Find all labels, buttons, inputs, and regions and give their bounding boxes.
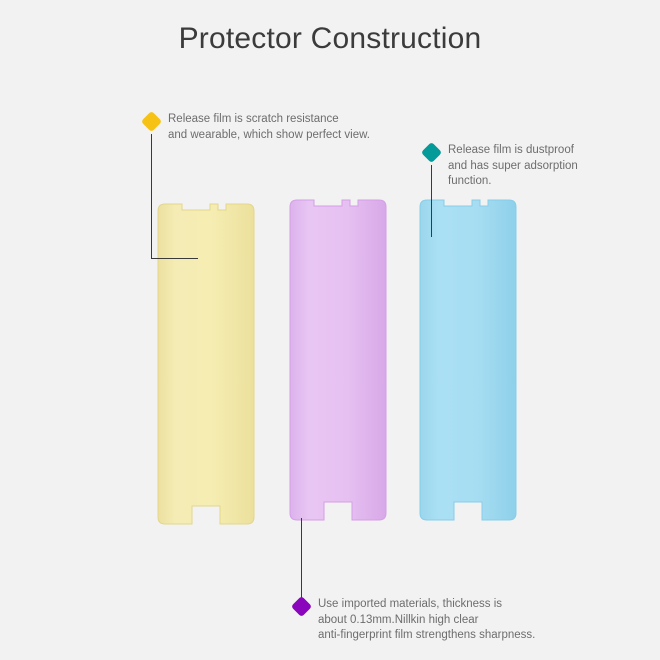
film-shape-yellow [152, 203, 260, 525]
annotation-teal-text: Release film is dustproof and has super … [448, 143, 578, 190]
leader-line-purple [301, 518, 302, 600]
annotation-purple-line-1: Use imported materials, thickness is [318, 597, 535, 613]
leader-line-teal [431, 165, 432, 237]
annotation-purple-text: Use imported materials, thickness is abo… [318, 597, 535, 644]
screen-protector-film-blue [414, 199, 522, 521]
film-shape-pink [284, 199, 392, 521]
diagram-canvas: Protector Construction [0, 0, 660, 660]
annotation-purple-line-3: anti-fingerprint film strengthens sharpn… [318, 628, 535, 644]
film-shape-blue [414, 199, 522, 521]
leader-line-yellow-vertical [151, 134, 152, 259]
screen-protector-film-pink [284, 199, 392, 521]
leader-line-yellow-horizontal [151, 258, 198, 259]
annotation-yellow-line-1: Release film is scratch resistance [168, 112, 370, 128]
diamond-marker-purple-icon [291, 596, 312, 617]
diamond-marker-yellow-icon [141, 111, 162, 132]
screen-protector-film-yellow [152, 203, 260, 525]
page-title: Protector Construction [0, 22, 660, 56]
annotation-purple-line-2: about 0.13mm.Nillkin high clear [318, 613, 535, 629]
annotation-yellow-line-2: and wearable, which show perfect view. [168, 128, 370, 144]
annotation-yellow-text: Release film is scratch resistance and w… [168, 112, 370, 143]
annotation-teal-line-1: Release film is dustproof [448, 143, 578, 159]
diamond-marker-teal-icon [421, 142, 442, 163]
annotation-teal-line-2: and has super adsorption [448, 159, 578, 175]
annotation-teal-line-3: function. [448, 174, 578, 190]
